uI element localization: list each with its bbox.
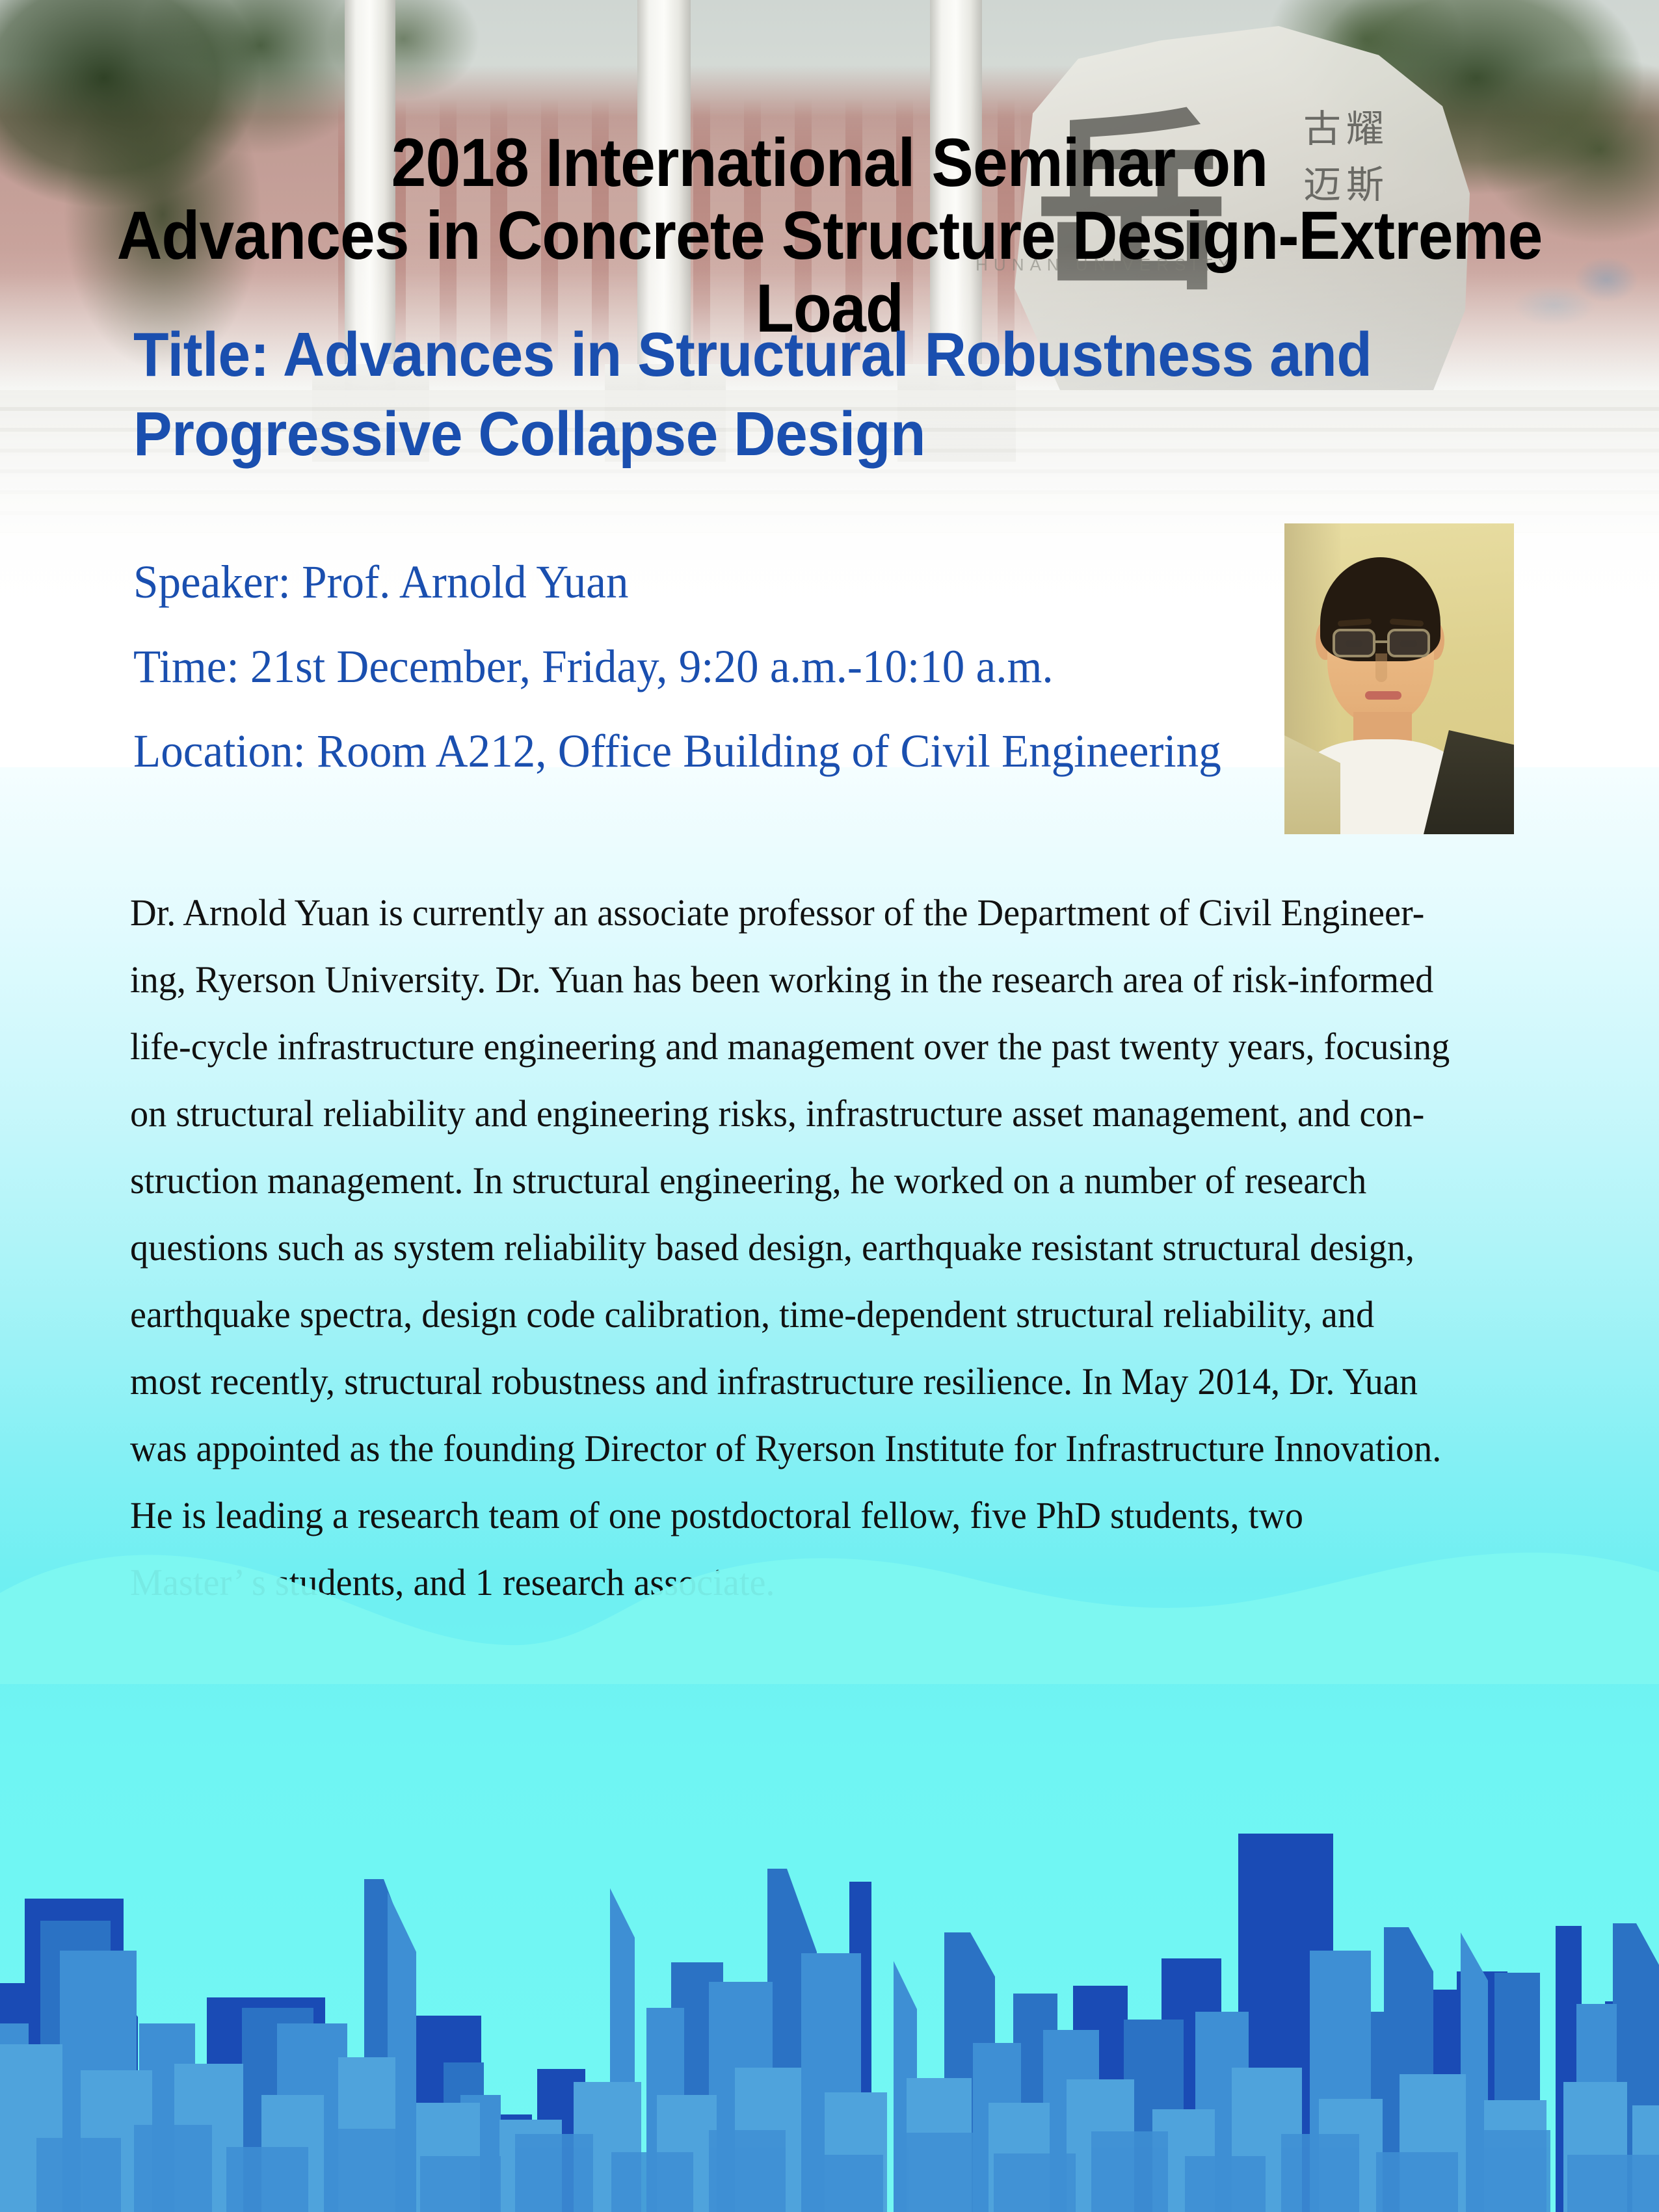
talk-title-line2: Progressive Collapse Design (133, 395, 1403, 474)
bio-line: life-cycle infrastructure engineering an… (130, 1013, 1493, 1080)
portrait-mouth (1365, 691, 1401, 700)
bio-line: most recently, structural robustness and… (130, 1348, 1493, 1415)
portrait-glasses-right-lens (1387, 629, 1430, 657)
seminar-poster: 岳 古耀 迈斯 HUNAN UNIVERSITY 2018 Internatio… (0, 0, 1659, 2212)
speaker-portrait (1284, 523, 1514, 834)
city-skyline (0, 1809, 1659, 2212)
bio-line: ing, Ryerson University. Dr. Yuan has be… (130, 946, 1493, 1013)
wave-divider (0, 1515, 1659, 1684)
portrait-nose (1375, 653, 1387, 682)
bio-line: Dr. Arnold Yuan is currently an associat… (130, 879, 1493, 946)
bio-line: struction management. In structural engi… (130, 1147, 1493, 1214)
bio-line: was appointed as the founding Director o… (130, 1415, 1493, 1482)
portrait-glasses-bridge (1375, 640, 1387, 643)
portrait-glasses-left-lens (1333, 629, 1375, 657)
speaker-bio: Dr. Arnold Yuan is currently an associat… (130, 879, 1493, 1616)
bio-line: on structural reliability and engineerin… (130, 1080, 1493, 1147)
time-line: Time: 21st December, Friday, 9:20 a.m.-1… (133, 624, 1257, 709)
bio-line: earthquake spectra, design code calibrat… (130, 1281, 1493, 1348)
seminar-heading-line1: 2018 International Seminar on (66, 127, 1593, 200)
talk-title: Title: Advances in Structural Robustness… (133, 315, 1403, 474)
wave-path (0, 1553, 1659, 1684)
event-details: Speaker: Prof. Arnold Yuan Time: 21st De… (133, 540, 1257, 793)
seminar-heading: 2018 International Seminar on Advances i… (66, 127, 1593, 345)
portrait-jacket-right (1424, 730, 1514, 834)
talk-title-line1: Title: Advances in Structural Robustness… (133, 315, 1403, 395)
bio-line: questions such as system reliability bas… (130, 1214, 1493, 1281)
speaker-line: Speaker: Prof. Arnold Yuan (133, 540, 1257, 624)
location-line: Location: Room A212, Office Building of … (133, 709, 1257, 793)
